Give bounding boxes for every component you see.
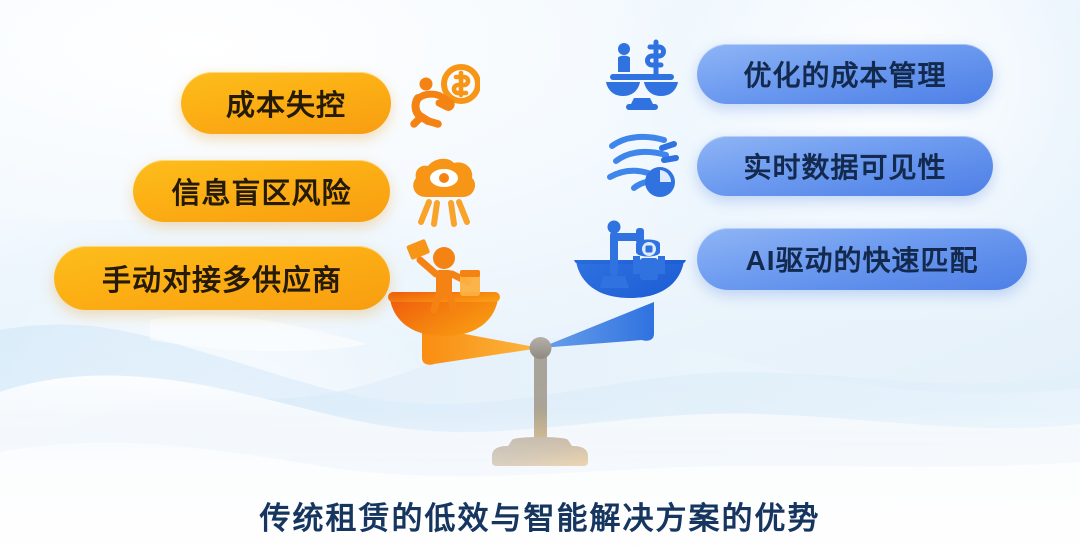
problem-pill-2-label: 手动对接多供应商	[102, 257, 342, 299]
solution-pill-1[interactable]: 实时数据可见性	[697, 136, 993, 196]
solution-pill-2[interactable]: AI驱动的快速匹配	[697, 228, 1027, 290]
problem-pill-2[interactable]: 手动对接多供应商	[54, 246, 390, 310]
problem-pill-1[interactable]: 信息盲区风险	[133, 160, 390, 222]
robot-arm-icon	[600, 218, 680, 298]
solution-pill-2-label: AI驱动的快速匹配	[745, 239, 978, 279]
problem-pill-0[interactable]: 成本失控	[181, 72, 391, 134]
problem-pill-0-label: 成本失控	[226, 82, 346, 124]
solution-pill-0[interactable]: 优化的成本管理	[697, 44, 993, 104]
running-person-money-icon	[406, 62, 480, 136]
eye-blindspot-icon	[404, 152, 484, 232]
solution-pill-0-label: 优化的成本管理	[743, 54, 946, 94]
balance-scale-money-icon	[604, 36, 680, 112]
realtime-data-flow-clock-icon	[604, 130, 682, 204]
infographic-canvas: 成本失控 信息盲区风险 手动对接多供应商	[0, 0, 1080, 560]
person-manual-paperwork-icon	[402, 230, 486, 314]
solution-pill-1-label: 实时数据可见性	[743, 146, 946, 186]
problem-pill-1-label: 信息盲区风险	[171, 170, 351, 212]
page-caption: 传统租赁的低效与智能解决方案的优势	[0, 493, 1080, 538]
